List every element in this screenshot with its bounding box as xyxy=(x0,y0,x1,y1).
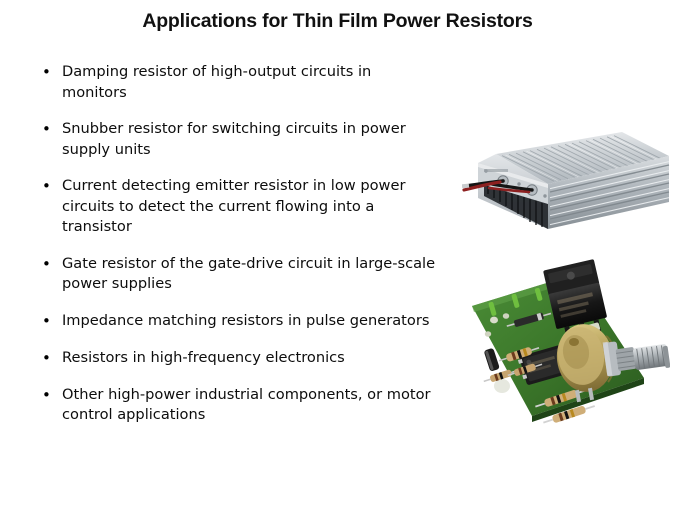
bullet-marker-icon: • xyxy=(36,176,62,197)
list-item-label: Gate resistor of the gate-drive circuit … xyxy=(62,254,440,295)
bullet-marker-icon: • xyxy=(36,119,62,140)
list-item: • Resistors in high-frequency electronic… xyxy=(36,348,440,369)
bullet-marker-icon: • xyxy=(36,348,62,369)
heatsink-illustration xyxy=(462,126,670,236)
bullet-marker-icon: • xyxy=(36,385,62,406)
list-item-label: Other high-power industrial components, … xyxy=(62,385,440,426)
bullet-list: • Damping resistor of high-output circui… xyxy=(36,62,440,442)
list-item-label: Impedance matching resistors in pulse ge… xyxy=(62,311,440,332)
bullet-marker-icon: • xyxy=(36,254,62,275)
list-item: • Current detecting emitter resistor in … xyxy=(36,176,440,238)
list-item-label: Damping resistor of high-output circuits… xyxy=(62,62,440,103)
heatsink-power-resistor-image xyxy=(462,126,670,236)
list-item: • Impedance matching resistors in pulse … xyxy=(36,311,440,332)
pcb-illustration xyxy=(458,258,670,428)
list-item: • Gate resistor of the gate-drive circui… xyxy=(36,254,440,295)
list-item: • Damping resistor of high-output circui… xyxy=(36,62,440,103)
list-item-label: Current detecting emitter resistor in lo… xyxy=(62,176,440,238)
list-item-label: Resistors in high-frequency electronics xyxy=(62,348,440,369)
bullet-marker-icon: • xyxy=(36,62,62,83)
list-item: • Other high-power industrial components… xyxy=(36,385,440,426)
slide-canvas: Applications for Thin Film Power Resisto… xyxy=(0,0,675,506)
pcb-potentiometer-image xyxy=(458,258,670,428)
page-title: Applications for Thin Film Power Resisto… xyxy=(0,10,675,33)
list-item-label: Snubber resistor for switching circuits … xyxy=(62,119,440,160)
bullet-marker-icon: • xyxy=(36,311,62,332)
list-item: • Snubber resistor for switching circuit… xyxy=(36,119,440,160)
